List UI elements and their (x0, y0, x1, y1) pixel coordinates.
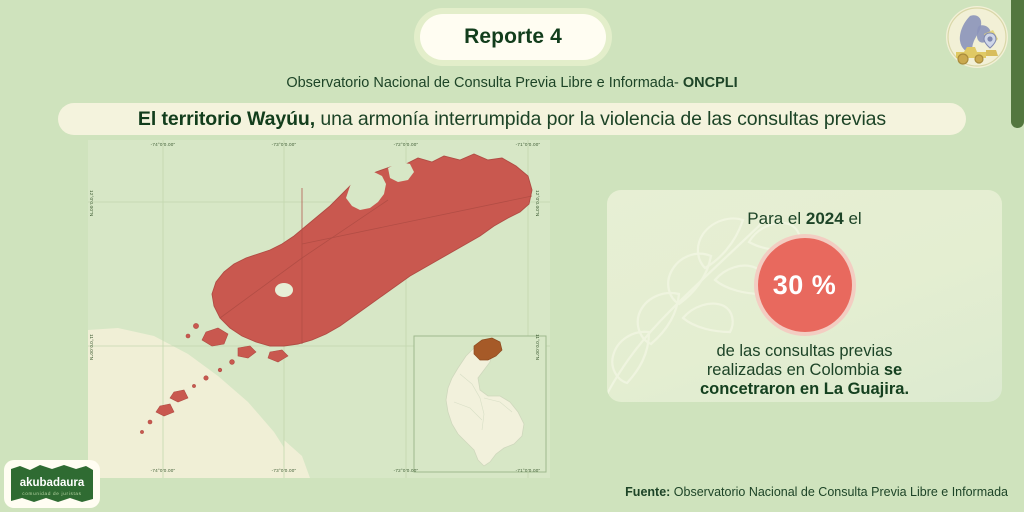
infographic-canvas: Reporte 4 Observatorio Nacional de Consu… (0, 0, 1024, 512)
organization-subtitle: Observatorio Nacional de Consulta Previa… (0, 75, 1024, 91)
map-xtick-3-bottom: -71°0'0.00" (516, 468, 541, 473)
akubadaura-tagline: comunidad de juristas (22, 491, 81, 496)
statistics-panel: Para el 2024 el 30 % de las consultas pr… (607, 190, 1002, 402)
stats-year: 2024 (806, 209, 844, 228)
headline-rest-part: una armonía interrumpida por la violenci… (315, 108, 886, 130)
headline-bold-part: El territorio Wayúu, (138, 108, 315, 130)
stats-body-line1: de las consultas previas (716, 342, 892, 360)
map-ytick-0-right: 12°0'0.00"N (535, 190, 540, 216)
organization-acronym: ONCPLI (683, 75, 738, 91)
headline-banner: El territorio Wayúu, una armonía interru… (58, 103, 966, 135)
accent-bar (1011, 0, 1024, 128)
emblem-icon (946, 6, 1008, 68)
stats-body-line3: concetraron en La Guajira. (700, 380, 909, 398)
oncpli-emblem-logo (946, 6, 1008, 68)
map-ytick-0: 12°0'0.00"N (89, 190, 94, 216)
map-xtick-2-bottom: -72°0'0.00" (394, 468, 419, 473)
report-label: Reporte 4 (464, 25, 562, 49)
stats-body-text: de las consultas previas realizadas en C… (607, 342, 1002, 399)
guajira-map (88, 140, 550, 478)
report-badge: Reporte 4 (420, 14, 606, 60)
akubadaura-name: akubadaura (20, 477, 85, 489)
map-ytick-1: 11°0'0.00"N (89, 334, 94, 360)
map-xtick-0-bottom: -74°0'0.00" (151, 468, 176, 473)
organization-name: Observatorio Nacional de Consulta Previa… (286, 75, 683, 91)
source-label: Fuente: (625, 485, 670, 499)
page-title: El territorio Wayúu, una armonía interru… (138, 108, 886, 131)
map-xtick-3: -71°0'0.00" (516, 142, 541, 147)
stats-lead-prefix: Para el (747, 209, 806, 228)
percentage-circle: 30 % (758, 238, 852, 332)
stats-body-line2-bold: se (884, 361, 902, 379)
map-panel[interactable]: -74°0'0.00" -73°0'0.00" -72°0'0.00" -71°… (88, 140, 550, 478)
statistics-content: Para el 2024 el 30 % de las consultas pr… (607, 190, 1002, 399)
map-xtick-0: -74°0'0.00" (151, 142, 176, 147)
map-ytick-1-right: 11°0'0.00"N (535, 334, 540, 360)
stats-lead-suffix: el (844, 209, 862, 228)
map-xtick-1: -73°0'0.00" (272, 142, 297, 147)
source-credit: Fuente: Observatorio Nacional de Consult… (625, 485, 1008, 499)
akubadaura-logo: akubadaura comunidad de juristas (4, 460, 100, 508)
stats-lead-text: Para el 2024 el (607, 209, 1002, 229)
source-text: Observatorio Nacional de Consulta Previa… (670, 485, 1008, 499)
map-xtick-2: -72°0'0.00" (394, 142, 419, 147)
map-xtick-1-bottom: -73°0'0.00" (272, 468, 297, 473)
stats-body-line2-normal: realizadas en Colombia (707, 361, 884, 379)
akubadaura-logo-mark: akubadaura comunidad de juristas (8, 463, 96, 505)
percentage-value: 30 % (773, 270, 837, 301)
